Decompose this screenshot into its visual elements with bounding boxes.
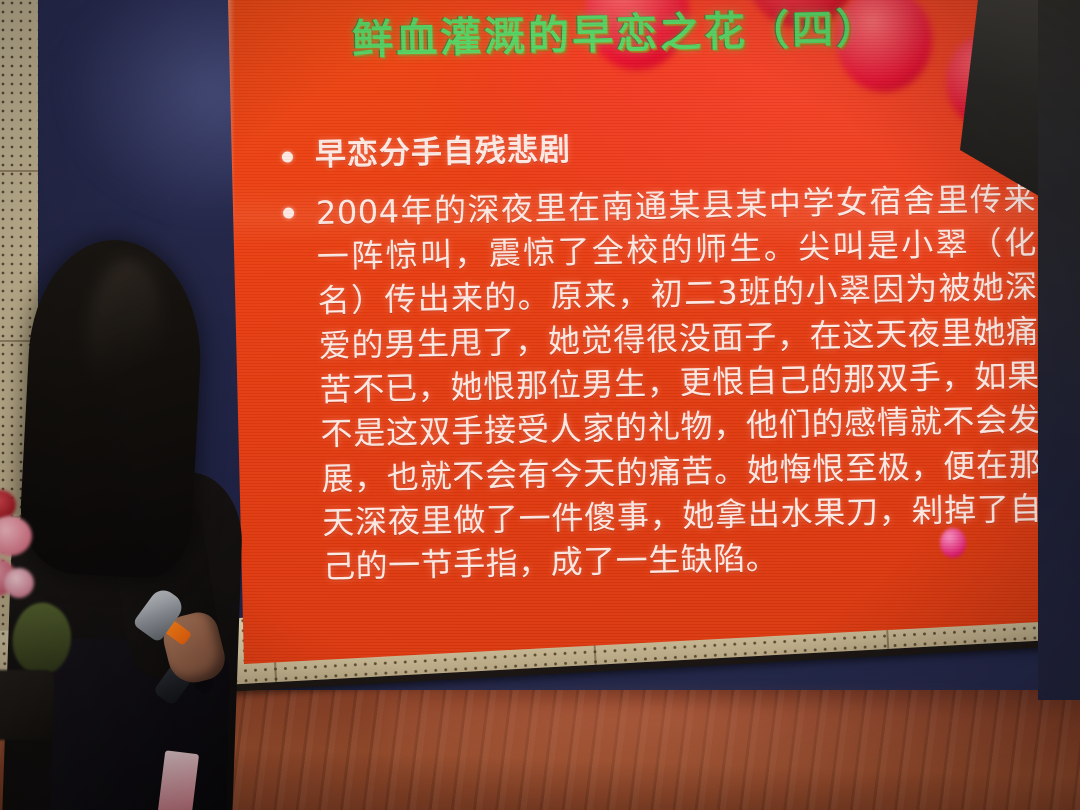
hair-highlight [84,257,166,411]
flower-vase [0,670,54,740]
flower-petal [4,568,34,598]
floor-reflection [380,700,1080,810]
lecture-scene-photo: 鲜血灌溉的早恋之花（四） 早恋分手自残悲剧 2004年的深夜里在南通某县某中学女… [0,0,1080,810]
flower-petal [0,516,32,556]
flower-arrangement [0,506,102,706]
right-wall-shadow [1038,0,1080,700]
